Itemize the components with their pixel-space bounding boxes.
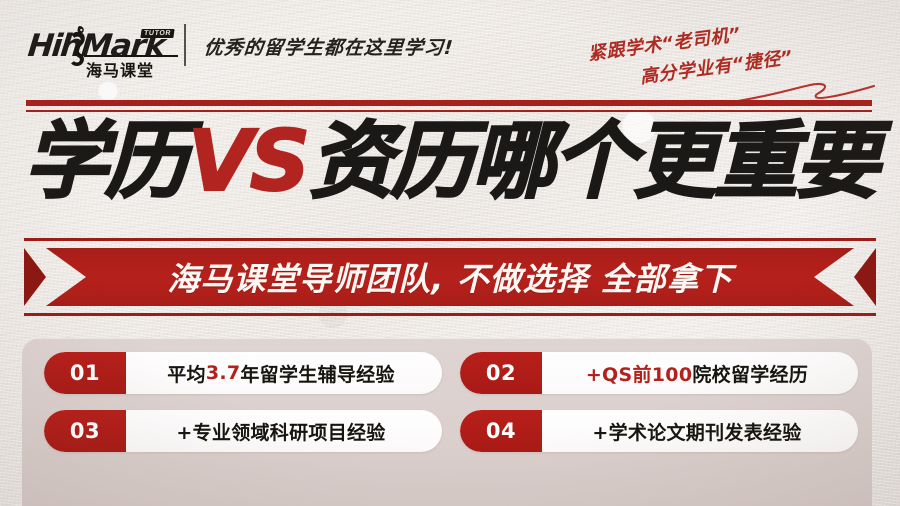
tutor-badge: TUTOR bbox=[140, 29, 174, 38]
ribbon-text: 海马课堂导师团队, 不做选择 全部拿下 bbox=[46, 248, 854, 306]
card-number-badge: 01 bbox=[44, 352, 126, 394]
headline-vs: VS bbox=[186, 112, 310, 210]
page-title: 学历VS资历哪个更重要 bbox=[0, 113, 900, 209]
ribbon-tail-left bbox=[24, 248, 46, 306]
card-number-badge: 04 bbox=[460, 410, 542, 452]
card-text-post: +学术论文期刊发表经验 bbox=[592, 418, 801, 445]
card-text-pre: 平均 bbox=[167, 360, 206, 387]
ribbon-rule-top bbox=[24, 238, 876, 241]
card-label: +QS前100院校留学经历 bbox=[542, 360, 858, 387]
card-text-post: +专业领域科研项目经验 bbox=[176, 418, 385, 445]
list-item[interactable]: 01 平均3.7年留学生辅导经验 bbox=[44, 352, 442, 394]
ribbon-banner: 海马课堂导师团队, 不做选择 全部拿下 bbox=[24, 238, 876, 316]
header-slogan-group: 紧跟学术“老司机” 高分学业有“捷径” bbox=[588, 20, 888, 80]
ribbon-tail-right bbox=[854, 248, 876, 306]
card-number-badge: 02 bbox=[460, 352, 542, 394]
logo-chinese-name: 海马课堂 bbox=[86, 57, 154, 81]
headline-part-1: 学历 bbox=[24, 112, 186, 210]
card-label: +学术论文期刊发表经验 bbox=[542, 418, 858, 445]
card-text-highlight: +QS前100 bbox=[586, 360, 693, 387]
headline-part-2: 资历哪个更重要 bbox=[309, 112, 876, 210]
card-label: 平均3.7年留学生辅导经验 bbox=[126, 360, 442, 387]
header-divider bbox=[184, 24, 186, 66]
list-item[interactable]: 03 +专业领域科研项目经验 bbox=[44, 410, 442, 452]
poster-canvas: HihMark TUTOR 海马课堂 优秀的留学生都在这里学习! 紧跟学术“老司… bbox=[0, 0, 900, 506]
card-number-badge: 03 bbox=[44, 410, 126, 452]
features-list: 01 平均3.7年留学生辅导经验 02 +QS前100院校留学经历 03 +专业… bbox=[44, 352, 858, 452]
card-text-highlight: 3.7 bbox=[206, 362, 241, 384]
brand-logo[interactable]: HihMark TUTOR 海马课堂 bbox=[28, 28, 178, 76]
headline-rules bbox=[26, 100, 872, 112]
card-text-post: 年留学生辅导经验 bbox=[240, 360, 394, 387]
header-tagline: 优秀的留学生都在这里学习! bbox=[203, 33, 455, 60]
card-label: +专业领域科研项目经验 bbox=[126, 418, 442, 445]
list-item[interactable]: 02 +QS前100院校留学经历 bbox=[460, 352, 858, 394]
card-text-post: 院校留学经历 bbox=[692, 360, 808, 387]
header-bar: HihMark TUTOR 海马课堂 优秀的留学生都在这里学习! 紧跟学术“老司… bbox=[0, 0, 900, 92]
ribbon-rule-bottom bbox=[24, 313, 876, 316]
logo-wordmark-a: Hi bbox=[26, 28, 62, 64]
list-item[interactable]: 04 +学术论文期刊发表经验 bbox=[460, 410, 858, 452]
